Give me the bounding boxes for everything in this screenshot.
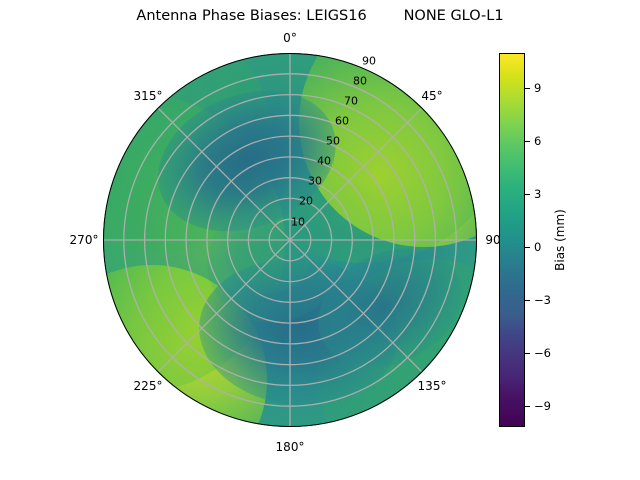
colorbar-tick-label-0: 0	[534, 240, 541, 254]
colorbar-tick	[525, 194, 530, 195]
figure-canvas: Antenna Phase Biases: LEIGS16 NONE GLO-L…	[0, 0, 640, 480]
r-tick-label-90: 90	[362, 55, 376, 68]
theta-tick-label-45: 45°	[421, 89, 442, 103]
colorbar-gradient-box	[499, 53, 525, 427]
colorbar-tick	[525, 247, 530, 248]
r-tick-label-20: 20	[299, 195, 313, 208]
page-title: Antenna Phase Biases: LEIGS16 NONE GLO-L…	[0, 8, 640, 24]
colorbar-tick	[525, 406, 530, 407]
theta-tick-label-0: 0°	[283, 31, 297, 45]
r-tick-label-30: 30	[308, 175, 322, 188]
r-tick-label-40: 40	[317, 155, 331, 168]
r-tick-label-50: 50	[326, 135, 340, 148]
colorbar-tick	[525, 353, 530, 354]
colorbar[interactable]: 9 6 3 0 −3 −6 −9	[499, 53, 525, 427]
r-tick-label-60: 60	[335, 115, 349, 128]
theta-tick-label-315: 315°	[134, 89, 163, 103]
colorbar-tick-label-m9: −9	[534, 399, 551, 413]
colorbar-tick	[525, 141, 530, 142]
colorbar-tick-label-m3: −3	[534, 293, 551, 307]
colorbar-tick-label-m6: −6	[534, 346, 551, 360]
r-tick-label-80: 80	[353, 75, 367, 88]
contour-blob	[273, 213, 343, 275]
colorbar-axis-label: Bias (mm)	[553, 209, 567, 271]
colorbar-tick-label-3: 3	[534, 187, 541, 201]
colorbar-gradient	[500, 54, 524, 426]
theta-tick-label-135: 135°	[418, 379, 447, 393]
theta-tick-label-180: 180°	[276, 440, 305, 454]
polar-axes[interactable]: 10 20 30 40 50 60 70 80 90	[103, 53, 477, 427]
theta-tick-label-270: 270°	[70, 233, 99, 247]
theta-tick-label-225: 225°	[134, 379, 163, 393]
polar-contour-surface	[103, 53, 477, 427]
colorbar-tick	[525, 88, 530, 89]
r-tick-label-70: 70	[344, 95, 358, 108]
colorbar-tick-label-6: 6	[534, 134, 541, 148]
colorbar-tick-label-9: 9	[534, 81, 541, 95]
r-tick-label-10: 10	[291, 216, 305, 229]
colorbar-tick	[525, 300, 530, 301]
